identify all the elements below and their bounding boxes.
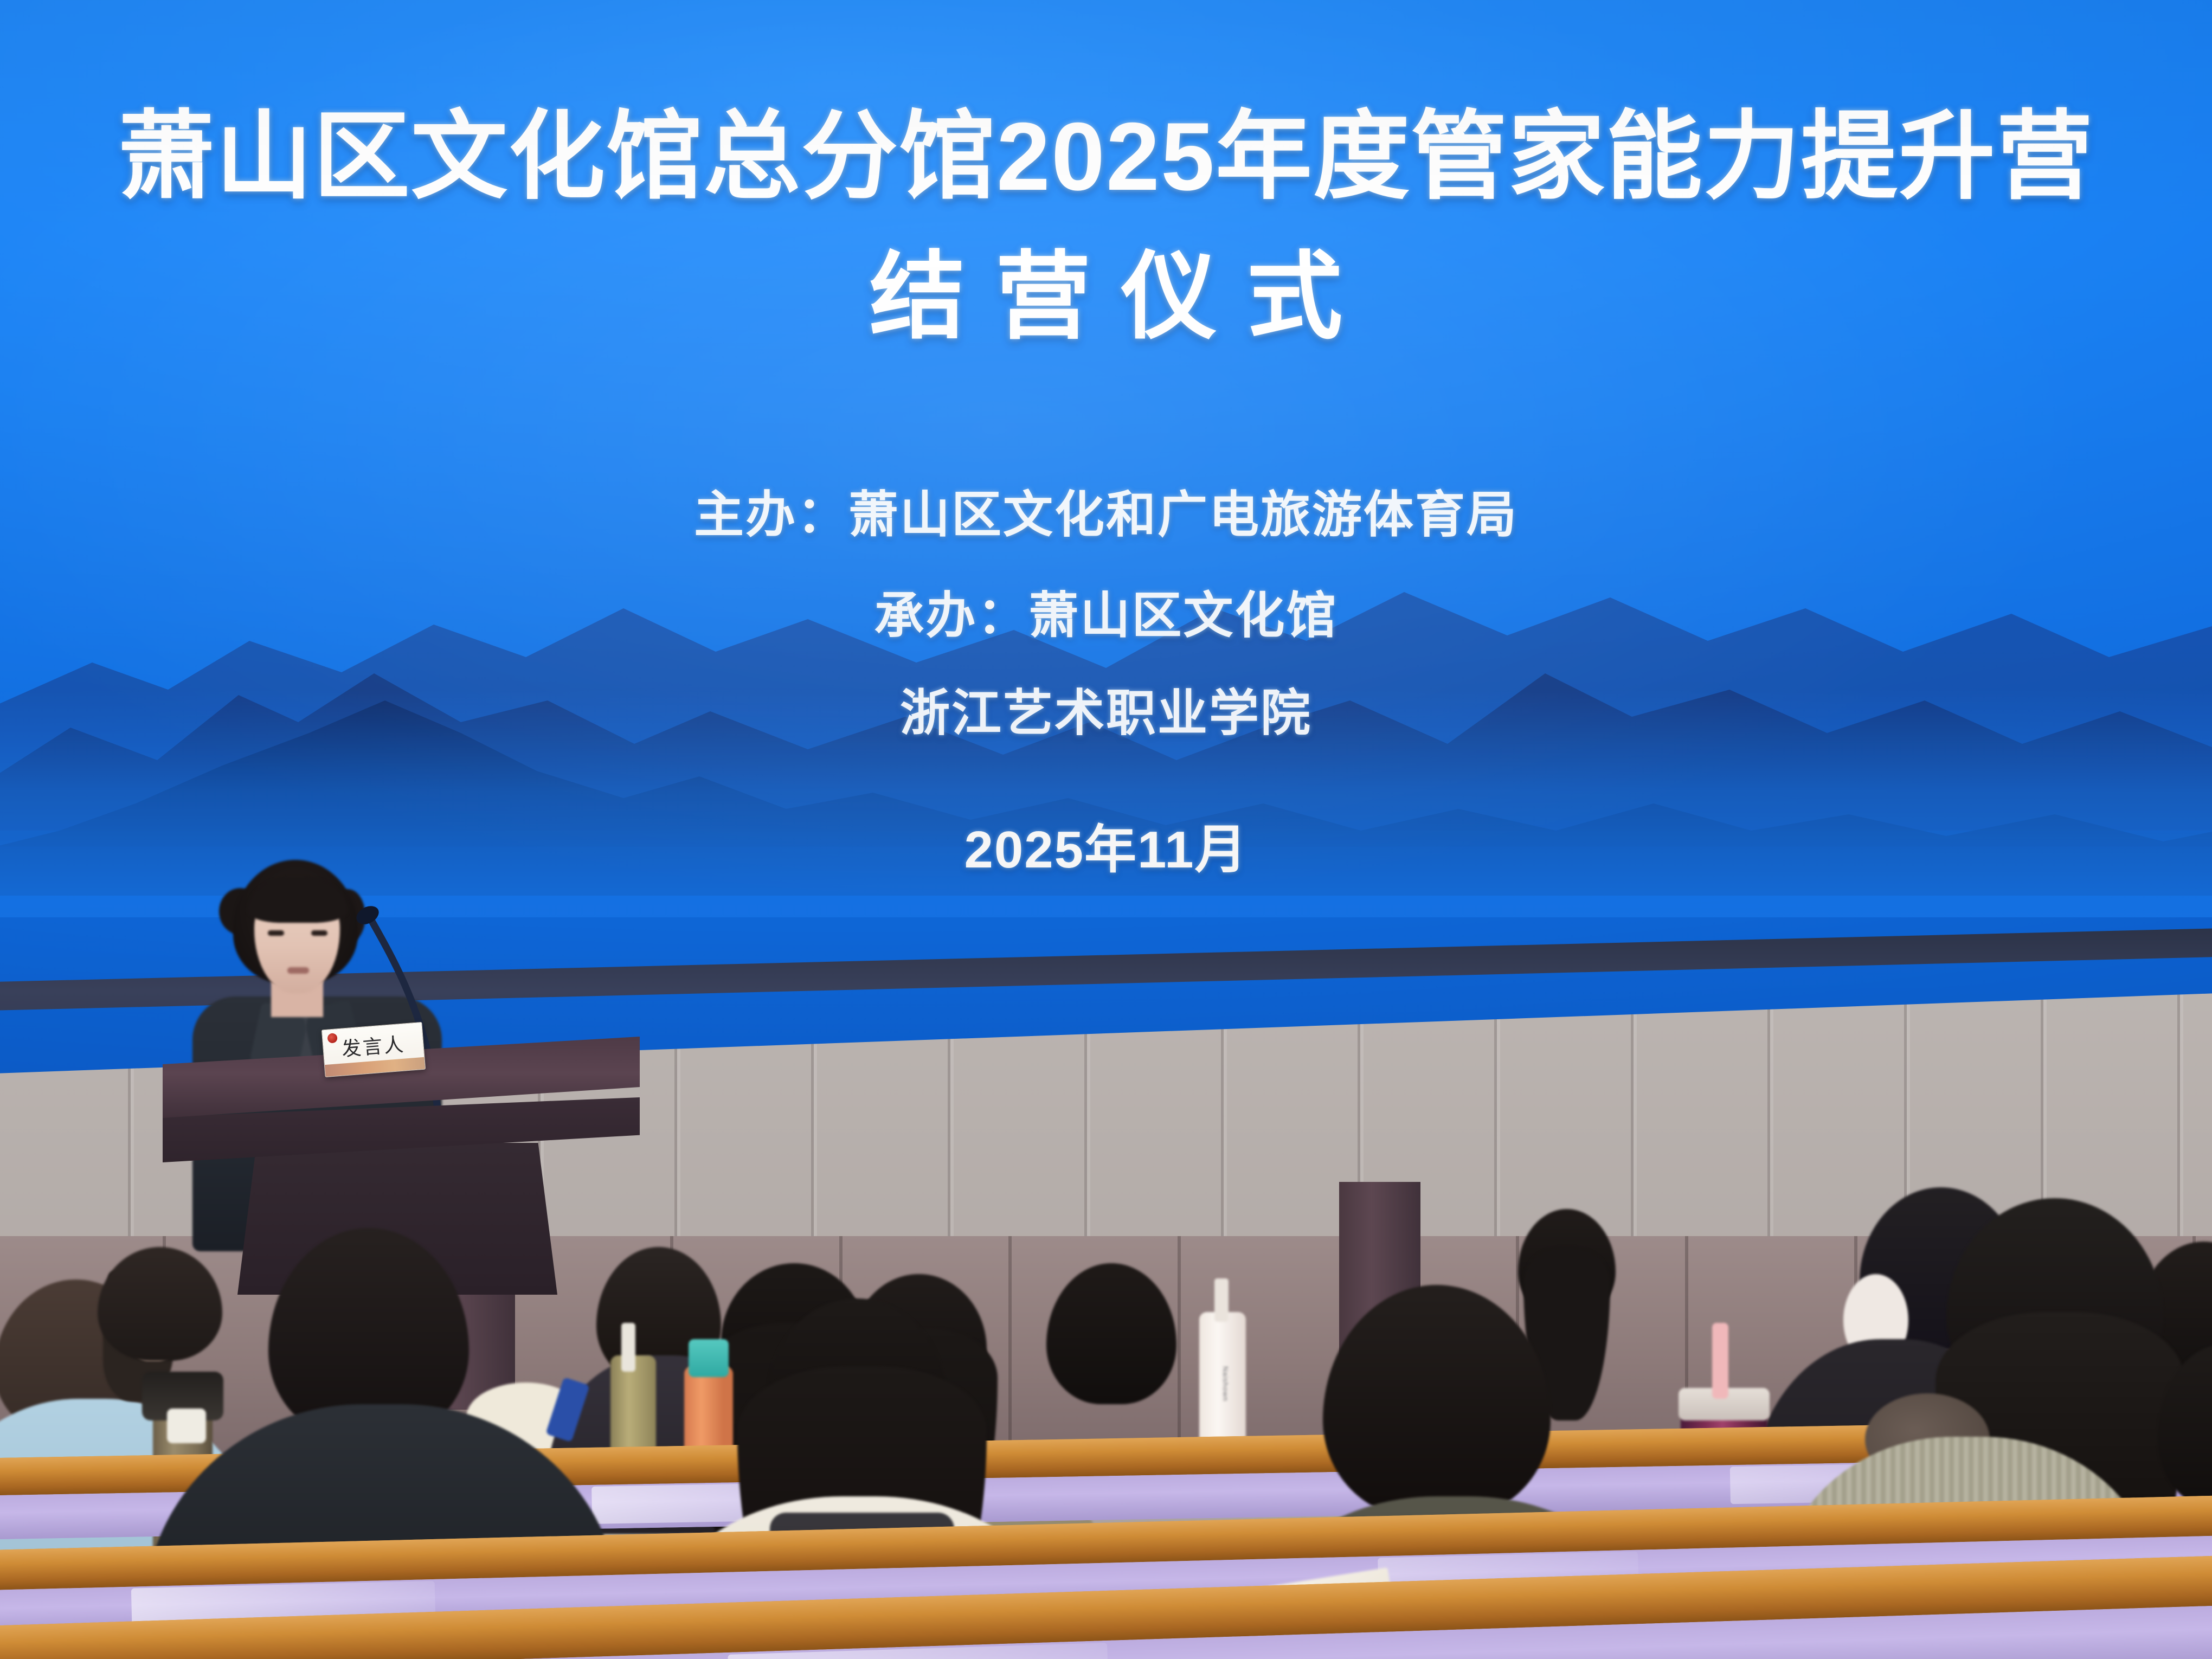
- speaker-name-card: 发言人: [321, 1022, 426, 1077]
- water-bottle-white-straw: [1214, 1278, 1229, 1322]
- name-card-label: 发言人: [323, 1033, 423, 1060]
- speaker-eye-left: [268, 930, 284, 936]
- juice-bottle-straw: [1712, 1323, 1728, 1399]
- water-bottle-label: Naishown: [1221, 1366, 1230, 1401]
- screenshot-root: 萧山区文化馆总分馆2025年度管家能力提升营 结营仪式 主办：萧山区文化和广电旅…: [0, 0, 2212, 1659]
- slide-host-line: 承办：萧山区文化馆: [0, 591, 2212, 641]
- slide-title-line-1: 萧山区文化馆总分馆2025年度管家能力提升营: [0, 108, 2212, 205]
- slide-date-line: 2025年11月: [0, 824, 2212, 876]
- bottle-olive-straw: [621, 1323, 635, 1372]
- speaker-mouth: [287, 967, 309, 974]
- slide-organizer-line: 主办：萧山区文化和广电旅游体育局: [0, 490, 2212, 540]
- thermos-bottle-handle: [167, 1409, 206, 1443]
- slide-title-line-2: 结营仪式: [0, 249, 2212, 345]
- slide-cohost-line: 浙江艺术职业学院: [0, 689, 2212, 738]
- orange-bottle-cap: [689, 1339, 729, 1377]
